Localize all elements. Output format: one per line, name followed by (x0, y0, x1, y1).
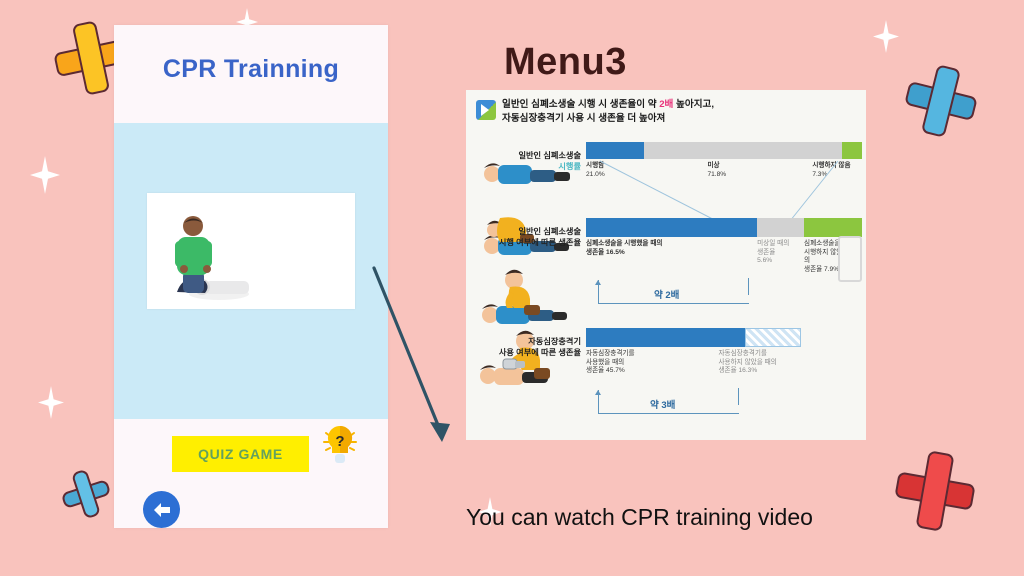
chart-row-2-annotation: 약 2배 (650, 287, 683, 301)
headline-part-1: 일반인 심폐소생술 시행 시 생존율이 약 (502, 99, 659, 110)
cpr-statistics-infographic: 일반인 심폐소생술 시행 시 생존율이 약 2배 높아지고, 자동심장충격기 사… (466, 90, 866, 440)
chart-row-3-bar (586, 328, 801, 347)
infographic-headline: 일반인 심폐소생술 시행 시 생존율이 약 2배 높아지고, 자동심장충격기 사… (476, 98, 858, 126)
headline-part-2: 높아지고, (673, 99, 714, 110)
chart-row-1-label: 일반인 심폐소생술 시행률 (495, 150, 581, 172)
chart-row-3-annotation: 약 3배 (646, 397, 679, 411)
chart-row-3: 자동심장충격기 사용 여부에 따른 생존율 자동심장충격기를 사용했을 때의 생… (586, 328, 862, 418)
chart-row-2-legend: 심폐소생술을 시행했을 때의 생존율 16.5% 미상일 때의 생존율 5.6%… (586, 237, 862, 281)
chart-row-3-legend: 자동심장충격기를 사용했을 때의 생존율 45.7% 자동심장충격기를 사용하지… (586, 347, 862, 393)
video-thumbnail[interactable] (147, 193, 355, 309)
menu-title: Menu3 (504, 41, 627, 84)
chart-row-1: 일반인 심폐소생술 시행률 시행함 21.0% 미상 71.8% (586, 142, 862, 200)
back-arrow-icon (152, 501, 172, 519)
pointer-arrow-icon (368, 262, 478, 447)
cross-blue-top-right (899, 59, 984, 144)
side-placeholder-box (838, 236, 862, 282)
headline-line-2: 자동심장충격기 사용 시 생존율 더 높아져 (502, 112, 714, 126)
cross-blue-bottom-left (56, 464, 116, 524)
chart-row-2-bar (586, 218, 862, 237)
slide-canvas: CPR Trainning (0, 0, 1024, 576)
svg-text:?: ? (335, 433, 344, 450)
phone-mockup: CPR Trainning (114, 25, 388, 528)
play-badge-icon (476, 100, 496, 120)
quiz-game-button[interactable]: QUIZ GAME (172, 436, 309, 472)
chart-row-2: 일반인 심폐소생술 시행 여부에 따른 생존율 심폐소생술을 시행했을 때의 생… (586, 218, 862, 314)
video-stage (114, 123, 388, 419)
back-button[interactable] (143, 491, 180, 528)
lightbulb-question-icon: ? (320, 423, 360, 471)
sparkle-icon (30, 156, 60, 194)
chart-row-2-label: 일반인 심폐소생술 시행 여부에 따른 생존율 (495, 226, 581, 248)
headline-highlight: 2배 (659, 99, 673, 110)
rescuer-compression-icon (470, 268, 582, 328)
cross-red-bottom-right (890, 446, 980, 536)
sparkle-icon (873, 20, 899, 53)
sparkle-icon (38, 386, 64, 419)
page-title: CPR Trainning (114, 25, 388, 84)
chart-row-1-bar (586, 142, 862, 159)
chart-rows: 일반인 심폐소생술 시행률 시행함 21.0% 미상 71.8% (586, 142, 862, 422)
slide-caption: You can watch CPR training video (466, 504, 813, 531)
chart-row-3-label: 자동심장충격기 사용 여부에 따른 생존율 (495, 336, 581, 358)
